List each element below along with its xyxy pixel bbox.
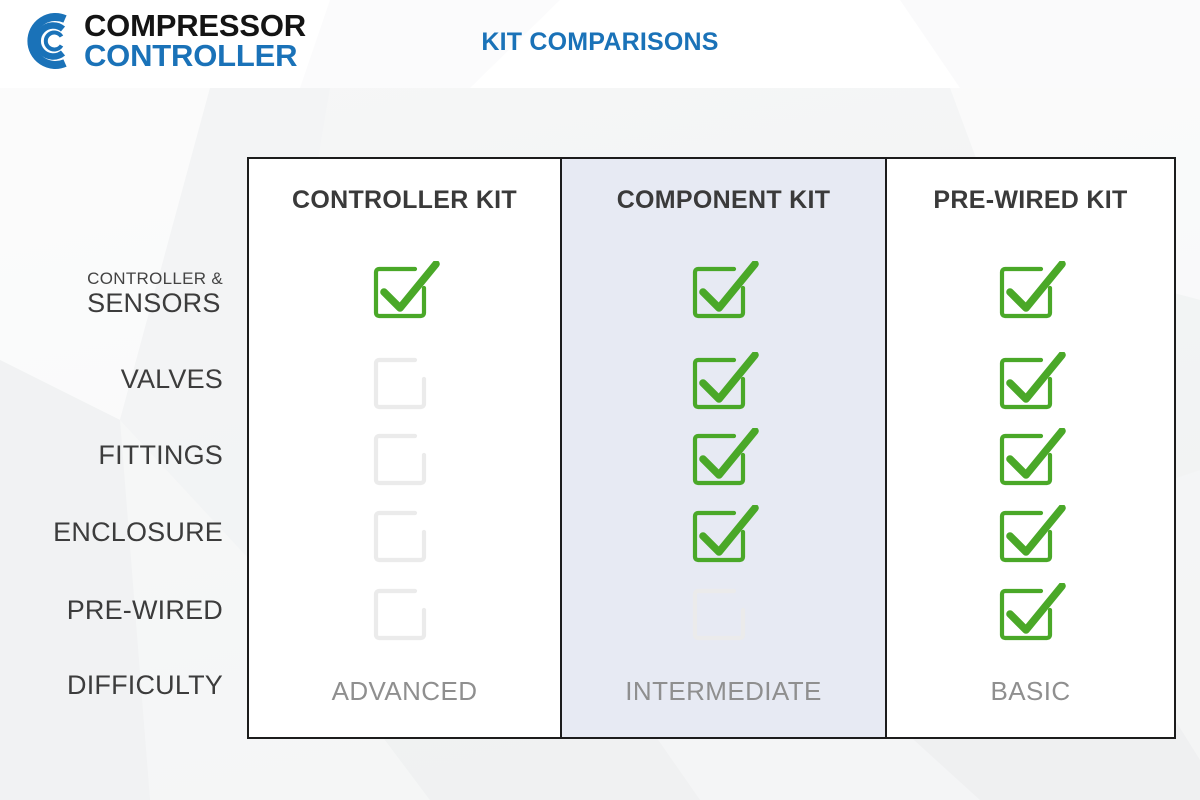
- kit-column-component-kit[interactable]: COMPONENT KITINTERMEDIATE: [560, 159, 887, 737]
- row-label-main: PRE-WIRED: [67, 595, 223, 626]
- difficulty-cell: BASIC: [887, 671, 1174, 711]
- row-label-column: CONTROLLER &SENSORSVALVESFITTINGSENCLOSU…: [0, 157, 247, 739]
- feature-cell[interactable]: [887, 428, 1174, 494]
- page-title: KIT COMPARISONS: [0, 28, 1200, 57]
- feature-cell[interactable]: [249, 583, 560, 649]
- feature-cell[interactable]: [887, 505, 1174, 571]
- feature-cell[interactable]: [562, 583, 885, 649]
- kit-column-header: COMPONENT KIT: [562, 159, 885, 242]
- feature-cell[interactable]: [887, 261, 1174, 327]
- green-checked-checkbox-icon: [369, 261, 441, 327]
- kit-column-controller-kit[interactable]: CONTROLLER KITADVANCED: [249, 159, 560, 737]
- page-header: COMPRESSOR CONTROLLER KIT COMPARISONS: [0, 0, 1200, 88]
- green-checked-checkbox-icon: [688, 428, 760, 494]
- kit-column-pre-wired-kit[interactable]: PRE-WIRED KITBASIC: [887, 159, 1174, 737]
- green-checked-checkbox-icon: [995, 352, 1067, 418]
- kit-column-body: ADVANCED: [249, 242, 560, 737]
- green-checked-checkbox-icon: [688, 505, 760, 571]
- row-label-sensors: CONTROLLER &SENSORS: [87, 270, 223, 319]
- row-label-main: DIFFICULTY: [67, 670, 223, 701]
- difficulty-cell: INTERMEDIATE: [562, 671, 885, 711]
- empty-checkbox-icon: [369, 428, 441, 494]
- feature-cell[interactable]: [562, 505, 885, 571]
- green-checked-checkbox-icon: [995, 583, 1067, 649]
- feature-cell[interactable]: [887, 352, 1174, 418]
- green-checked-checkbox-icon: [995, 261, 1067, 327]
- row-label-main: ENCLOSURE: [53, 517, 223, 548]
- kit-comparison-table: CONTROLLER KITADVANCEDCOMPONENT KITINTER…: [247, 157, 1176, 739]
- difficulty-value: ADVANCED: [332, 676, 478, 707]
- difficulty-value: INTERMEDIATE: [625, 676, 821, 707]
- row-label-valves: VALVES: [121, 364, 223, 395]
- row-label-main: FITTINGS: [98, 440, 223, 471]
- feature-cell[interactable]: [249, 428, 560, 494]
- green-checked-checkbox-icon: [688, 352, 760, 418]
- row-label-main: VALVES: [121, 364, 223, 395]
- empty-checkbox-icon: [369, 583, 441, 649]
- green-checked-checkbox-icon: [995, 505, 1067, 571]
- row-label-sub: CONTROLLER &: [87, 270, 223, 288]
- feature-cell[interactable]: [887, 583, 1174, 649]
- kit-column-header: CONTROLLER KIT: [249, 159, 560, 242]
- green-checked-checkbox-icon: [995, 428, 1067, 494]
- row-label-pre-wired: PRE-WIRED: [67, 595, 223, 626]
- feature-cell[interactable]: [562, 261, 885, 327]
- feature-cell[interactable]: [562, 352, 885, 418]
- feature-cell[interactable]: [249, 505, 560, 571]
- row-label-difficulty: DIFFICULTY: [67, 670, 223, 701]
- row-label-fittings: FITTINGS: [98, 440, 223, 471]
- empty-checkbox-icon: [688, 583, 760, 649]
- feature-cell[interactable]: [249, 261, 560, 327]
- kit-column-header: PRE-WIRED KIT: [887, 159, 1174, 242]
- difficulty-cell: ADVANCED: [249, 671, 560, 711]
- row-label-main: SENSORS: [87, 288, 223, 319]
- green-checked-checkbox-icon: [688, 261, 760, 327]
- empty-checkbox-icon: [369, 352, 441, 418]
- empty-checkbox-icon: [369, 505, 441, 571]
- row-label-enclosure: ENCLOSURE: [53, 517, 223, 548]
- difficulty-value: BASIC: [990, 676, 1070, 707]
- kit-column-body: INTERMEDIATE: [562, 242, 885, 737]
- feature-cell[interactable]: [562, 428, 885, 494]
- feature-cell[interactable]: [249, 352, 560, 418]
- kit-column-body: BASIC: [887, 242, 1174, 737]
